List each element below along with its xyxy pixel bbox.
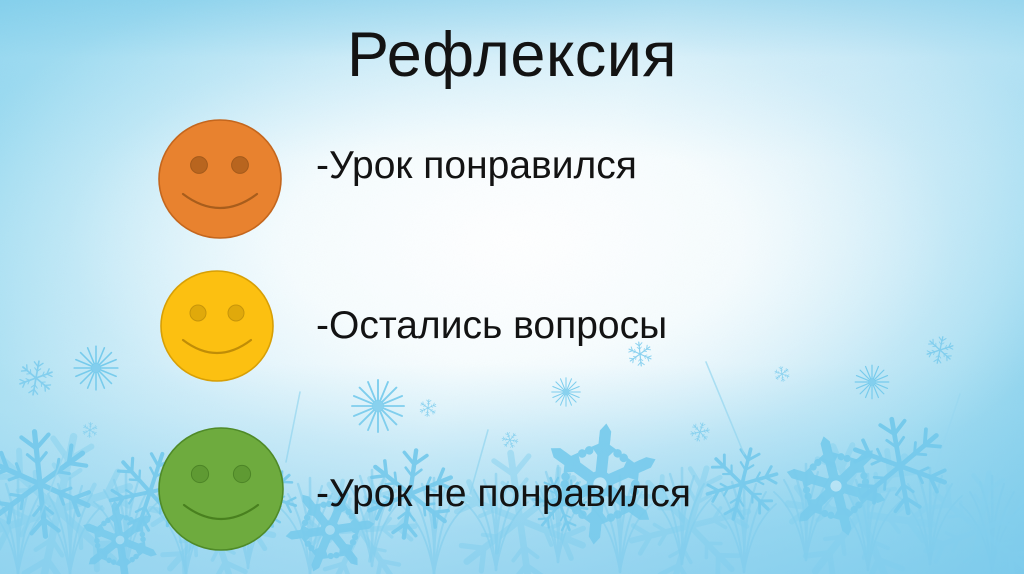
bullet-text-questions: -Остались вопросы [316, 306, 667, 345]
smiley-face-icon-questions [158, 268, 276, 384]
presentation-slide: Рефлексия -Урок понравился -Остались воп… [0, 0, 1024, 574]
bullet-text-not-liked: -Урок не понравился [316, 474, 691, 513]
frost-haze [0, 364, 1024, 574]
slide-title: Рефлексия [0, 22, 1024, 88]
smiley-face-icon-liked [155, 118, 285, 240]
bullet-text-liked: -Урок понравился [316, 146, 637, 185]
snowflake-band [0, 334, 1024, 574]
smiley-face-icon-not-liked [156, 425, 286, 553]
